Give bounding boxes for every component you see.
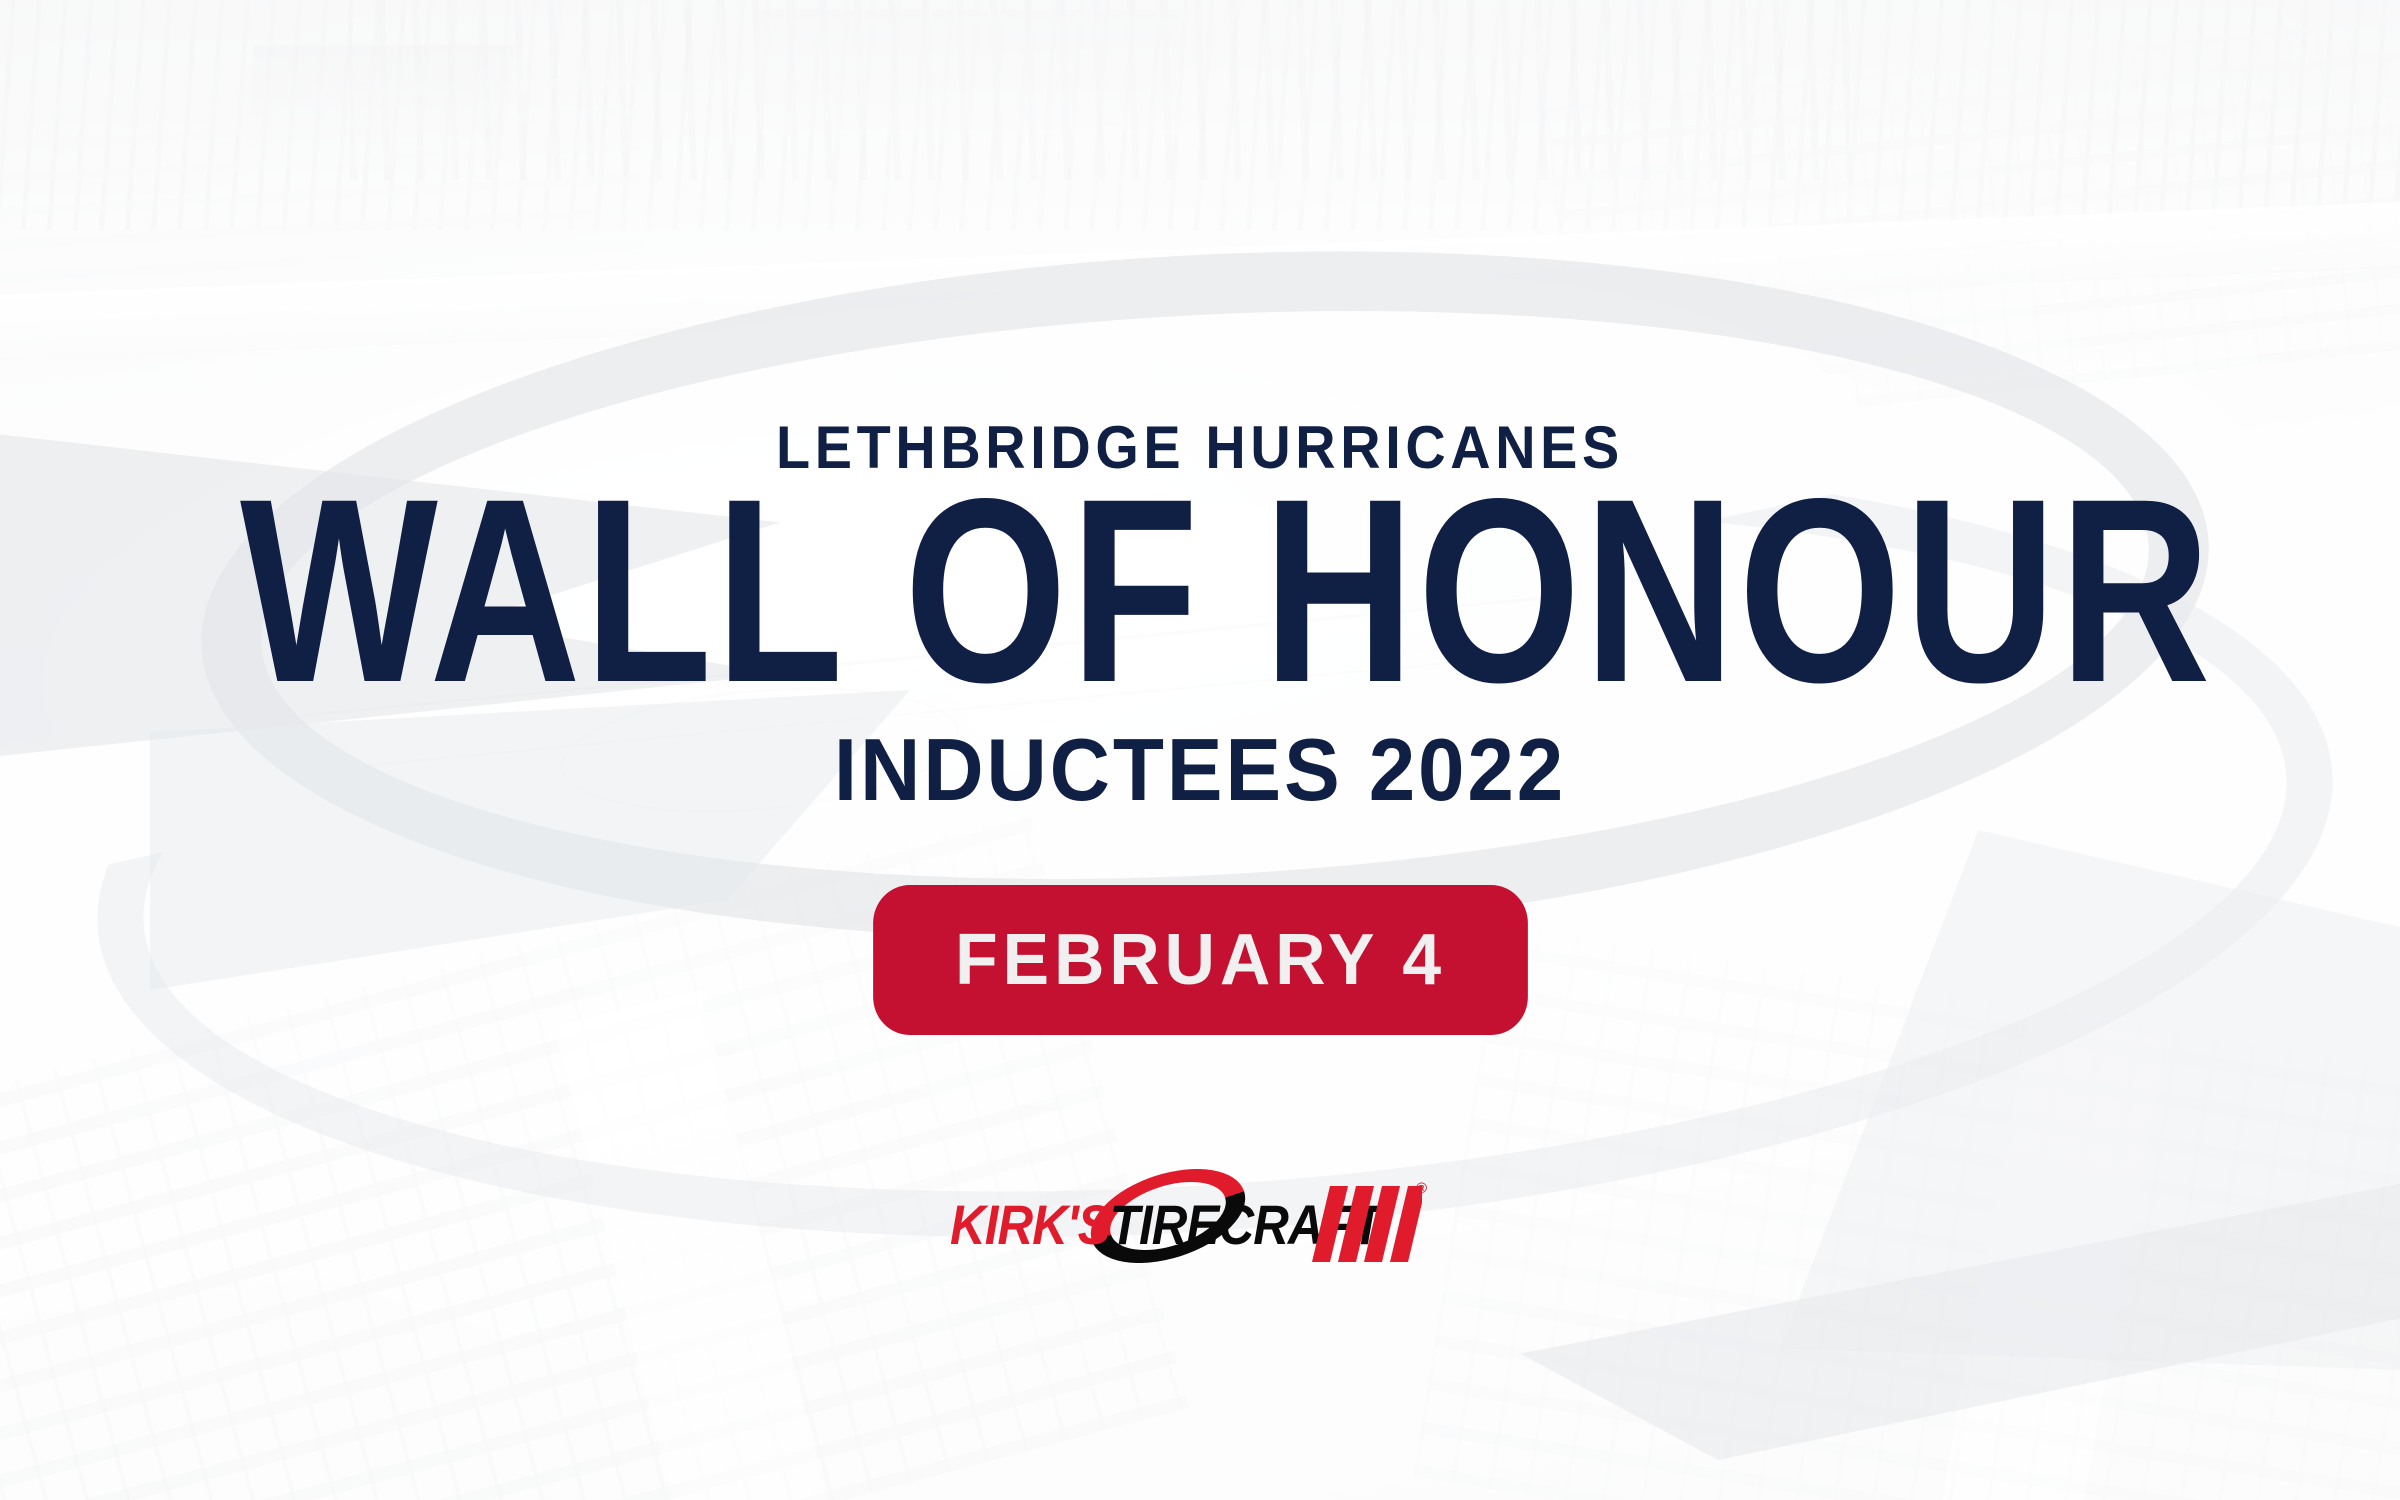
page-subtitle: INDUCTEES 2022 (60, 726, 2340, 814)
four-slanted-bars-icon (1312, 1186, 1422, 1262)
poster-content: LETHBRIDGE HURRICANES WALL OF HONOUR IND… (0, 0, 2400, 1500)
kirks-tirecraft-logo: KIRK'S TIRECRAFT ® (950, 1150, 1450, 1295)
sponsor-logo-container: KIRK'S TIRECRAFT ® (0, 1150, 2400, 1295)
registered-trademark-icon: ® (1416, 1180, 1427, 1197)
page-title: WALL OF HONOUR (240, 470, 2160, 711)
promo-poster: LETHBRIDGE HURRICANES WALL OF HONOUR IND… (0, 0, 2400, 1500)
status-badge: FEBRUARY 4 (873, 885, 1528, 1035)
sponsor-name-kirks: KIRK'S (950, 1197, 1110, 1253)
date-badge-container: FEBRUARY 4 (0, 885, 2400, 1035)
